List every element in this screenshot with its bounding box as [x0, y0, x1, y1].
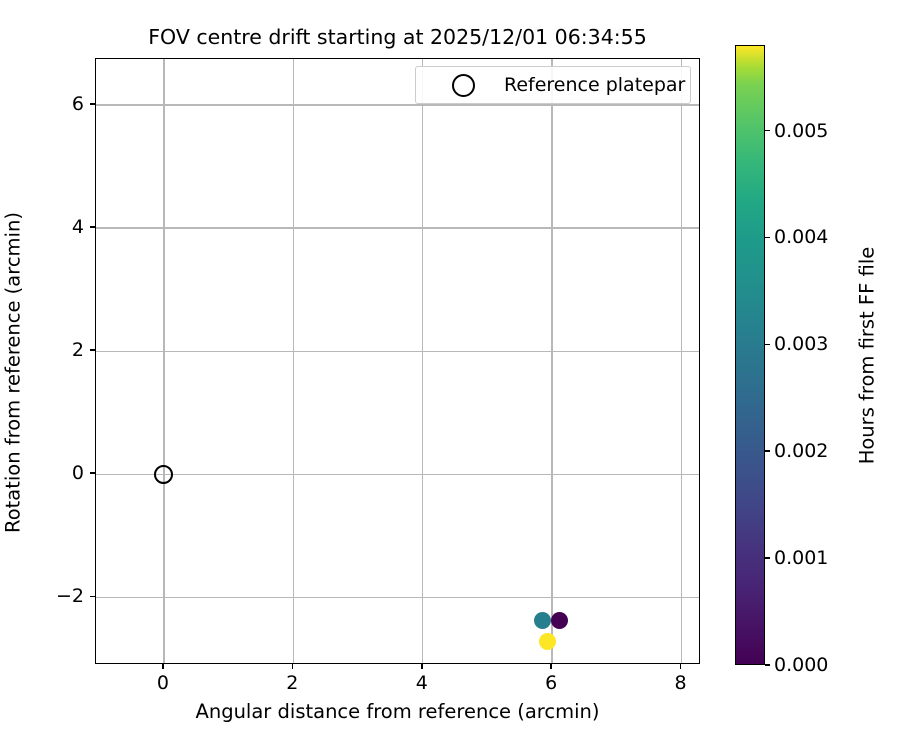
- plot-axes: [95, 58, 700, 664]
- colorbar-tick-mark: [765, 664, 770, 666]
- y-tick-label: −2: [20, 585, 84, 607]
- gridline-horizontal: [96, 597, 699, 598]
- x-tick-mark: [162, 664, 164, 669]
- y-tick-mark: [90, 349, 95, 351]
- gridline-vertical: [551, 59, 552, 663]
- colorbar-tick-mark: [765, 344, 770, 346]
- y-tick-label: 2: [20, 339, 84, 361]
- x-tick-label: 4: [392, 672, 452, 694]
- colorbar-tick-mark: [765, 450, 770, 452]
- y-tick-label: 6: [20, 93, 84, 115]
- data-point: [551, 612, 568, 629]
- colorbar-tick-label: 0.004: [774, 226, 828, 248]
- colorbar-gradient: [736, 46, 764, 664]
- y-tick-label: 4: [20, 216, 84, 238]
- y-tick-mark: [90, 103, 95, 105]
- x-tick-label: 6: [521, 672, 581, 694]
- x-tick-mark: [292, 664, 294, 669]
- gridline-horizontal: [96, 104, 699, 105]
- x-tick-label: 8: [651, 672, 711, 694]
- y-tick-label: 0: [20, 462, 84, 484]
- colorbar-tick-mark: [765, 557, 770, 559]
- colorbar-tick-mark: [765, 130, 770, 132]
- colorbar: [735, 45, 765, 665]
- legend-marker-reference-platepar: [452, 74, 475, 97]
- x-tick-mark: [550, 664, 552, 669]
- gridline-horizontal: [96, 227, 699, 228]
- gridline-horizontal: [96, 474, 699, 475]
- y-tick-mark: [90, 472, 95, 474]
- colorbar-tick-label: 0.003: [774, 333, 828, 355]
- data-point: [534, 612, 551, 629]
- data-point: [539, 633, 556, 650]
- y-tick-mark: [90, 596, 95, 598]
- page-title: FOV centre drift starting at 2025/12/01 …: [95, 25, 700, 49]
- y-tick-mark: [90, 226, 95, 228]
- x-tick-label: 0: [133, 672, 193, 694]
- gridline-horizontal: [96, 351, 699, 352]
- colorbar-tick-label: 0.005: [774, 120, 828, 142]
- colorbar-tick-label: 0.002: [774, 440, 828, 462]
- x-axis-label: Angular distance from reference (arcmin): [95, 700, 700, 723]
- reference-platepar-marker: [154, 465, 173, 484]
- y-axis-label: Rotation from reference (arcmin): [2, 70, 25, 676]
- colorbar-tick-label: 0.000: [774, 654, 828, 676]
- gridline-vertical: [293, 59, 294, 663]
- x-tick-mark: [421, 664, 423, 669]
- colorbar-label: Hours from first FF file: [856, 46, 879, 666]
- gridline-vertical: [681, 59, 682, 663]
- x-tick-mark: [680, 664, 682, 669]
- legend-label-reference-platepar: Reference platepar: [504, 74, 685, 96]
- gridline-vertical: [422, 59, 423, 663]
- gridline-vertical: [163, 59, 164, 663]
- legend: Reference platepar: [415, 66, 691, 104]
- colorbar-tick-label: 0.001: [774, 547, 828, 569]
- chart-figure: FOV centre drift starting at 2025/12/01 …: [0, 0, 900, 750]
- colorbar-tick-mark: [765, 237, 770, 239]
- x-tick-label: 2: [262, 672, 322, 694]
